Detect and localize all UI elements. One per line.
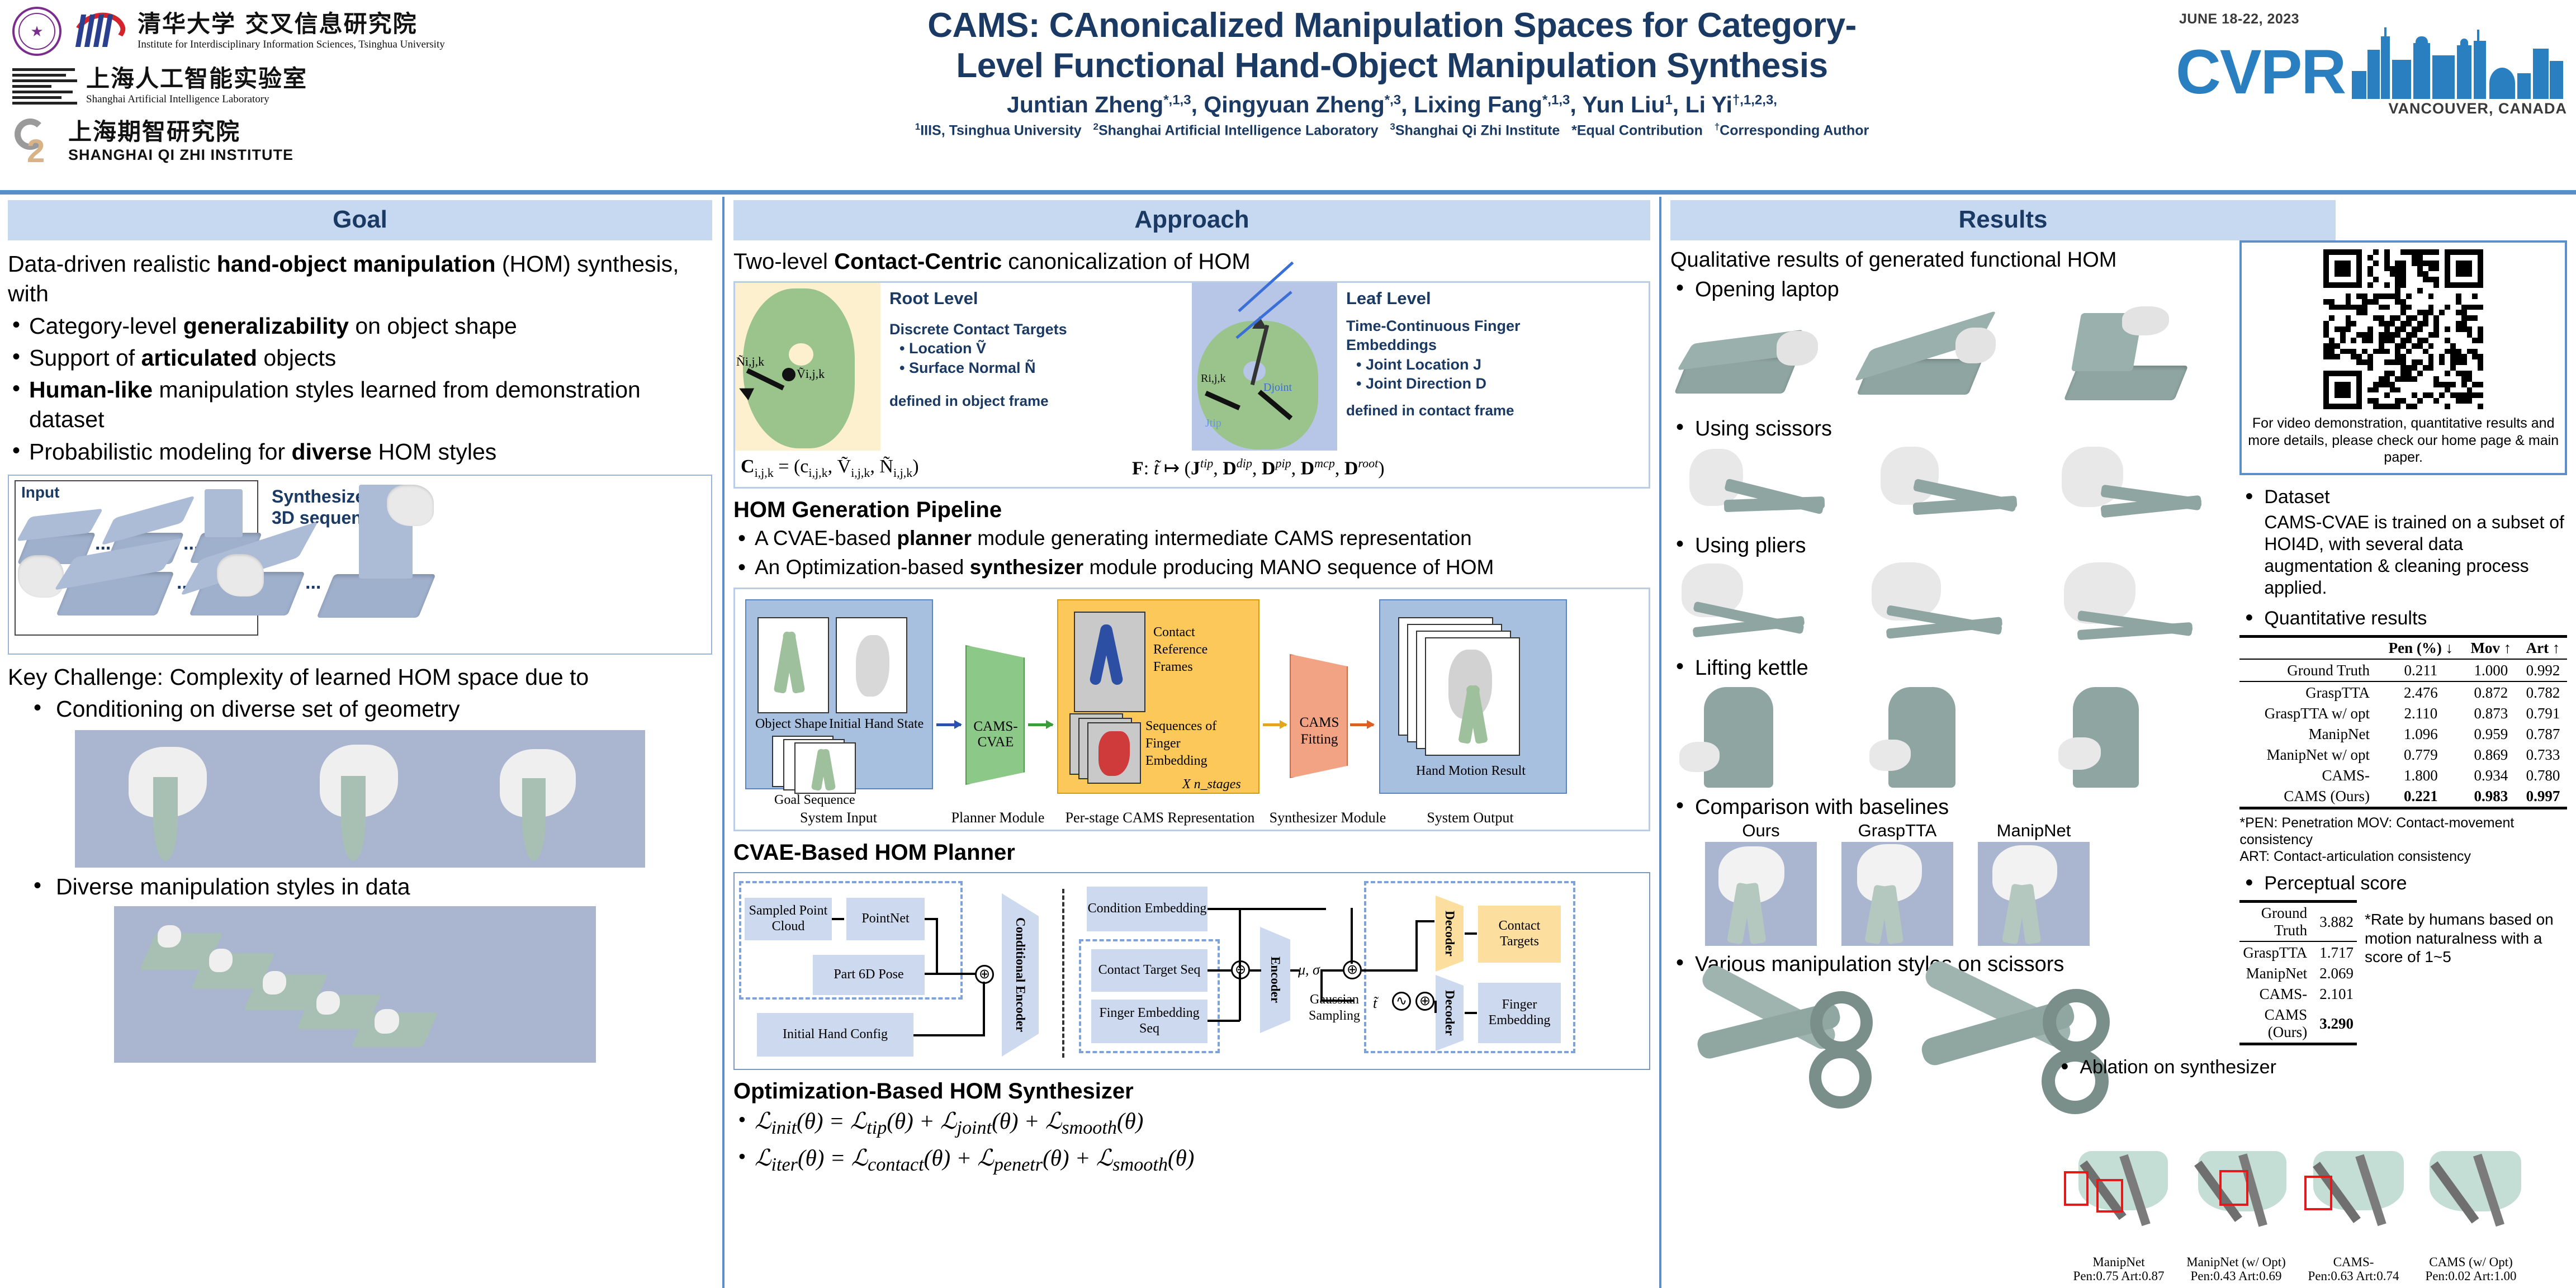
quant-r0-v2: 0.992 bbox=[2519, 660, 2567, 681]
challenge-bullet-list: Conditioning on diverse set of geometry bbox=[8, 694, 712, 724]
quant-r1-v0: 2.476 bbox=[2379, 683, 2463, 703]
ablation-cell-3: CAMS (w/ Opt) Pen:0.02 Art:1.00 bbox=[2414, 1147, 2528, 1284]
pipe-label-goal-sequence: Goal Sequence bbox=[774, 793, 855, 808]
quant-r5-v1: 0.934 bbox=[2463, 765, 2519, 786]
baseline-label-ours: Ours bbox=[1705, 821, 1817, 841]
ablation-row: ManipNet Pen:0.75 Art:0.87 ManipNet (w bbox=[2062, 1147, 2570, 1284]
pipeline-figure: Object Shape Initial Hand State Goal Seq… bbox=[733, 588, 1650, 831]
ablation-img-2 bbox=[2296, 1147, 2411, 1254]
pipeline-canvas: Object Shape Initial Hand State Goal Seq… bbox=[735, 589, 1649, 830]
synthesizer-title: Optimization-Based HOM Synthesizer bbox=[733, 1079, 1650, 1104]
challenge-bullet-2: Diverse manipulation styles in data bbox=[8, 872, 712, 902]
perc-r0-v0: 3.882 bbox=[2316, 903, 2357, 941]
perceptual-note: *Rate by humans based on motion naturaln… bbox=[2365, 894, 2567, 1046]
planner-canvas: Sampled Point Cloud PointNet Part 6D Pos… bbox=[735, 873, 1649, 1069]
pipe-label-stages: X n_stages bbox=[1182, 777, 1241, 792]
pipe-object-shape-card bbox=[757, 617, 829, 713]
vancouver-skyline-icon bbox=[2351, 27, 2564, 99]
planner-encoder: Encoder bbox=[1260, 927, 1290, 1033]
pipe-caption-3: Per-stage CAMS Representation bbox=[1054, 809, 1266, 826]
ablation-highlight-2 bbox=[2304, 1176, 2332, 1210]
ablation-caption-3: CAMS (w/ Opt) Pen:0.02 Art:1.00 bbox=[2414, 1255, 2528, 1284]
results-left: Qualitative results of generated functio… bbox=[1670, 240, 2232, 1124]
header-divider bbox=[0, 190, 2576, 195]
quant-r0-label: Ground Truth bbox=[2239, 660, 2379, 681]
leaf-item-2: Joint Direction D bbox=[1356, 374, 1649, 394]
quant-r3-v0: 1.096 bbox=[2379, 724, 2463, 745]
planner-node-finger-embedding: Finger Embedding bbox=[1478, 983, 1561, 1043]
perceptual-table: Ground Truth 3.882 GraspTTA 1.717 ManipN… bbox=[2239, 900, 2357, 1046]
planner-ce-label: Conditional Encoder bbox=[1013, 917, 1027, 1032]
logo-text-cn-qizhi: 上海期智研究院 bbox=[68, 120, 293, 144]
affiliation-list: 1IIIS, Tsinghua University 2Shanghai Art… bbox=[609, 121, 2175, 139]
column-approach: Approach Two-level Contact-Centric canon… bbox=[722, 197, 1661, 1288]
pliers-frame-1 bbox=[1670, 561, 1849, 651]
quant-col-3: Art ↑ bbox=[2519, 638, 2567, 659]
section-header-goal: Goal bbox=[8, 200, 712, 240]
ablation-img-3 bbox=[2414, 1147, 2528, 1254]
pipe-label-finger-embedding: Sequences of Finger Embedding bbox=[1145, 718, 1244, 770]
author-list: Juntian Zheng*,1,3, Qingyuan Zheng*,3, L… bbox=[609, 92, 2175, 118]
ablation-name-2: CAMS- bbox=[2296, 1255, 2411, 1270]
root-item-2: Surface Normal Ñ bbox=[899, 358, 1192, 378]
root-frame-note: defined in object frame bbox=[889, 392, 1192, 410]
planner-decoder-2: Decoder bbox=[1436, 975, 1464, 1051]
quant-r2-v2: 0.791 bbox=[2519, 703, 2567, 724]
quant-r1-label: GraspTTA bbox=[2239, 683, 2379, 703]
quant-r4-v0: 0.779 bbox=[2379, 745, 2463, 765]
table-row: CAMS- 1.800 0.934 0.780 bbox=[2239, 765, 2567, 786]
pipe-contact-ref-card bbox=[1074, 612, 1145, 712]
goal-b2-post: objects bbox=[257, 345, 336, 371]
result-bullet-opening-laptop: Opening laptop bbox=[1670, 278, 2232, 302]
pipeline-bullets: A CVAE-based planner module generating i… bbox=[733, 525, 1650, 581]
pipe-label-hand-state: Initial Hand State bbox=[829, 717, 924, 732]
quant-header-row: Pen (%) ↓ Mov ↑ Art ↑ bbox=[2239, 638, 2567, 659]
planner-decoder2-label: Decoder bbox=[1442, 990, 1457, 1036]
canon-formula-row: Ci,j,k = (ci,j,k, Ṽi,j,k, Ñi,j,k) F: t̃ … bbox=[735, 451, 1649, 487]
pipe-planner-module bbox=[965, 645, 1025, 785]
results-grid: Qualitative results of generated functio… bbox=[1670, 240, 2567, 1124]
pipe-label-object-shape: Object Shape bbox=[755, 717, 827, 732]
pipe-caption-2: Planner Module bbox=[942, 809, 1054, 826]
table-row: GraspTTA w/ opt 2.110 0.873 0.791 bbox=[2239, 703, 2567, 724]
poster-header: 清华大学 交叉信息研究院 Institute for Interdiscipli… bbox=[0, 0, 2576, 195]
ablation-caption-1: ManipNet (w/ Opt) Pen:0.43 Art:0.69 bbox=[2179, 1255, 2293, 1284]
tsinghua-seal-icon bbox=[12, 7, 61, 56]
pipe-label-contact-frames: Contact Reference Frames bbox=[1153, 624, 1243, 676]
goal-bullet-2: Support of articulated objects bbox=[8, 343, 712, 373]
scissors-frame-2 bbox=[1855, 444, 2034, 528]
goal-b1-pre: Category-level bbox=[29, 313, 183, 339]
pipeline-bullet-1: A CVAE-based planner module generating i… bbox=[733, 525, 1650, 552]
goal-b2-bold: articulated bbox=[141, 345, 257, 371]
goal-b4-post: HOM styles bbox=[372, 439, 496, 465]
root-location-label: Ṽi,j,k bbox=[797, 367, 825, 381]
goal-bullet-4: Probabilistic modeling for diverse HOM s… bbox=[8, 437, 712, 467]
leaf-group-heading-l2: Embeddings bbox=[1346, 335, 1649, 355]
goal-intro-a: Data-driven realistic bbox=[8, 251, 217, 277]
planner-gaussian-sampling: Gaussian Sampling bbox=[1305, 992, 1364, 1024]
root-item-list: Location Ṽ Surface Normal Ñ bbox=[889, 339, 1192, 377]
planner-title: CVAE-Based HOM Planner bbox=[733, 840, 1650, 865]
planner-node-contact-targets: Contact Targets bbox=[1478, 906, 1561, 963]
quant-title: Quantitative results bbox=[2239, 608, 2567, 629]
planner-node-initial-hand: Initial Hand Config bbox=[757, 1013, 913, 1057]
qr-code-icon[interactable] bbox=[2323, 249, 2483, 409]
pipe-label-hand-motion: Hand Motion Result bbox=[1416, 764, 1526, 779]
baseline-labels-row: Ours GraspTTA ManipNet bbox=[1670, 821, 2232, 841]
pb2-post: module producing MANO sequence of HOM bbox=[1083, 556, 1494, 579]
baseline-img-grasptta bbox=[1841, 842, 1953, 946]
pipe-caption-1: System Input bbox=[735, 809, 942, 826]
leaf-item-1: Joint Location J bbox=[1356, 355, 1649, 375]
leaf-djoint-label: Djoint bbox=[1263, 381, 1292, 394]
ablation-name-0: ManipNet bbox=[2062, 1255, 2176, 1270]
key-challenge-text: Key Challenge: Complexity of learned HOM… bbox=[8, 662, 712, 692]
goal-intro: Data-driven realistic hand-object manipu… bbox=[8, 249, 712, 309]
goal-b1-bold: generalizability bbox=[183, 313, 349, 339]
pipeline-title: HOM Generation Pipeline bbox=[733, 498, 1650, 523]
kettle-frame-1 bbox=[1670, 684, 1849, 790]
kettle-frame-2 bbox=[1855, 684, 2034, 790]
pipe-out-card-4 bbox=[1425, 637, 1520, 756]
pipe-arrow-2 bbox=[1028, 723, 1053, 726]
ablation-caption-0: ManipNet Pen:0.75 Art:0.87 bbox=[2062, 1255, 2176, 1284]
quant-r5-v2: 0.780 bbox=[2519, 765, 2567, 786]
perc-r4-label: CAMS (Ours) bbox=[2239, 1005, 2316, 1044]
quant-r0-v1: 1.000 bbox=[2463, 660, 2519, 681]
logo-text-en-ailab: Shanghai Artificial Intelligence Laborat… bbox=[86, 93, 307, 106]
quant-r4-v1: 0.869 bbox=[2463, 745, 2519, 765]
table-row: ManipNet 2.069 bbox=[2239, 963, 2357, 984]
cvpr-date: JUNE 18-22, 2023 bbox=[2179, 11, 2567, 27]
figure-baseline-comparison bbox=[1670, 842, 2232, 946]
pb2-bold: synthesizer bbox=[970, 556, 1084, 579]
results-right: For video demonstration, quantitative re… bbox=[2232, 240, 2567, 1124]
pipe-hand-state-card bbox=[836, 617, 907, 713]
qr-panel: For video demonstration, quantitative re… bbox=[2239, 240, 2567, 475]
quant-footnote-2: ART: Contact-articulation consistency bbox=[2239, 848, 2567, 865]
canonicalization-figure: Ñi,j,k Ṽi,j,k Root Level Discrete Contac… bbox=[733, 281, 1650, 489]
kettle-frame-3 bbox=[2039, 684, 2218, 790]
column-results: Results Qualitative results of generated… bbox=[1661, 197, 2574, 1288]
quant-r3-v2: 0.787 bbox=[2519, 724, 2567, 745]
ablation-metrics-2: Pen:0.63 Art:0.74 bbox=[2296, 1269, 2411, 1284]
table-row: CAMS- 2.101 bbox=[2239, 984, 2357, 1005]
quant-r3-label: ManipNet bbox=[2239, 724, 2379, 745]
planner-figure: Sampled Point Cloud PointNet Part 6D Pos… bbox=[733, 872, 1650, 1070]
root-formula: Ci,j,k = (ci,j,k, Ṽi,j,k, Ñi,j,k) bbox=[741, 456, 1132, 480]
pipe-arrow-3 bbox=[1263, 723, 1286, 726]
quant-r2-v1: 0.873 bbox=[2463, 703, 2519, 724]
result-bullet-using-pliers: Using pliers bbox=[1670, 534, 2232, 558]
planner-conditional-encoder: Conditional Encoder bbox=[1002, 893, 1039, 1057]
pipeline-captions: System Input Planner Module Per-stage CA… bbox=[735, 809, 1649, 826]
root-group-heading: Discrete Contact Targets bbox=[889, 320, 1192, 339]
figure-geometry-diversity bbox=[75, 730, 645, 868]
shanghai-ai-lab-icon bbox=[12, 66, 78, 106]
root-item-1: Location Ṽ bbox=[899, 339, 1192, 358]
planner-plus-1: ⊕ bbox=[975, 965, 994, 984]
pb1-pre: A CVAE-based bbox=[755, 527, 897, 550]
goal-b3-bold: Human-like bbox=[29, 377, 153, 402]
figure-using-pliers bbox=[1670, 561, 2232, 651]
leaf-level-render: Ri,j,k Djoint Jtip bbox=[1192, 283, 1337, 451]
logo-text-cn-tsinghua: 清华大学 交叉信息研究院 bbox=[138, 12, 445, 36]
page-title-line1: CAMS: CAnonicalized Manipulation Spaces … bbox=[609, 6, 2175, 46]
perc-r3-label: CAMS- bbox=[2239, 984, 2316, 1005]
qr-caption: For video demonstration, quantitative re… bbox=[2247, 415, 2559, 466]
pipe-caption-5: System Output bbox=[1389, 809, 1551, 826]
ablation-highlight-1 bbox=[2219, 1170, 2248, 1206]
table-row: ManipNet 1.096 0.959 0.787 bbox=[2239, 724, 2567, 745]
logo-tsinghua-iiis: 清华大学 交叉信息研究院 Institute for Interdiscipli… bbox=[12, 3, 588, 59]
cvpr-wordmark: CVPR bbox=[2176, 45, 2345, 99]
quant-r4-v2: 0.733 bbox=[2519, 745, 2567, 765]
ablation-highlight-0a bbox=[2064, 1171, 2089, 1206]
quant-r6-v2: 0.997 bbox=[2526, 788, 2560, 804]
quant-col-1: Pen (%) ↓ bbox=[2379, 638, 2463, 659]
quant-footnote-1: *PEN: Penetration MOV: Contact-movement … bbox=[2239, 815, 2567, 848]
pb1-post: module generating intermediate CAMS repr… bbox=[972, 527, 1472, 550]
canon-title-bold: Contact-Centric bbox=[834, 249, 1002, 274]
challenge-bullet-list-2: Diverse manipulation styles in data bbox=[8, 872, 712, 902]
goal-b2-pre: Support of bbox=[29, 345, 141, 371]
perceptual-title: Perceptual score bbox=[2239, 873, 2567, 894]
canon-row: Ñi,j,k Ṽi,j,k Root Level Discrete Contac… bbox=[735, 283, 1649, 451]
table-row: Ground Truth 0.211 1.000 0.992 bbox=[2239, 660, 2567, 681]
quant-r2-label: GraspTTA w/ opt bbox=[2239, 703, 2379, 724]
baseline-label-manipnet: ManipNet bbox=[1978, 821, 2090, 841]
synth-eq-1: ℒinit(θ) = ℒtip(θ) + ℒjoint(θ) + ℒsmooth… bbox=[733, 1106, 1650, 1141]
goal-intro-bold: hand-object manipulation bbox=[217, 251, 496, 277]
planner-node-cond-embed: Condition Embedding bbox=[1087, 887, 1207, 931]
goal-b4-pre: Probabilistic modeling for bbox=[29, 439, 291, 465]
leaf-frame-note: defined in contact frame bbox=[1346, 401, 1649, 420]
pb1-bold: planner bbox=[897, 527, 972, 550]
goal-bullet-3: Human-like manipulation styles learned f… bbox=[8, 375, 712, 435]
laptop-frame-2 bbox=[1855, 305, 2034, 411]
result-bullet-comparison: Comparison with baselines bbox=[1670, 795, 2232, 820]
perc-r0-label: Ground Truth bbox=[2239, 903, 2316, 941]
pipe-arrow-1 bbox=[936, 723, 961, 726]
table-row: GraspTTA 1.717 bbox=[2239, 943, 2357, 963]
quant-r6-v1: 0.983 bbox=[2474, 788, 2508, 804]
perc-r4-v0: 3.290 bbox=[2319, 1015, 2354, 1032]
quant-r5-v0: 1.800 bbox=[2379, 765, 2463, 786]
logo-shanghai-ai-lab: 上海人工智能实验室 Shanghai Artificial Intelligen… bbox=[12, 59, 588, 113]
goal-b4-bold: diverse bbox=[291, 439, 372, 465]
poster-columns: Goal Data-driven realistic hand-object m… bbox=[0, 197, 2576, 1288]
logo-text-en-qizhi: SHANGHAI QI ZHI INSTITUTE bbox=[68, 146, 293, 164]
section-header-results: Results bbox=[1670, 200, 2336, 240]
result-bullet-using-scissors: Using scissors bbox=[1670, 417, 2232, 441]
challenge-bullet-1: Conditioning on diverse set of geometry bbox=[8, 694, 712, 724]
figure-opening-laptop bbox=[1670, 305, 2232, 411]
planner-node-pointcloud: Sampled Point Cloud bbox=[745, 898, 832, 940]
iiis-logo-icon bbox=[69, 9, 130, 54]
pb2-pre: An Optimization-based bbox=[755, 556, 970, 579]
column-goal: Goal Data-driven realistic hand-object m… bbox=[0, 197, 722, 1288]
perc-r1-v0: 1.717 bbox=[2316, 943, 2357, 963]
figure-using-scissors bbox=[1670, 444, 2232, 528]
scissors-frame-3 bbox=[2039, 444, 2218, 528]
baseline-img-manipnet bbox=[1978, 842, 2090, 946]
baseline-label-grasptta: GraspTTA bbox=[1841, 821, 1953, 841]
result-bullet-lifting-kettle: Lifting kettle bbox=[1670, 656, 2232, 680]
planner-node-contact-seq: Contact Target Seq bbox=[1091, 949, 1207, 992]
teaser-dots-4: ... bbox=[305, 572, 321, 594]
qizhi-logo-icon: 2 bbox=[12, 116, 60, 168]
ablation-title: Ablation on synthesizer bbox=[2055, 1057, 2558, 1078]
pliers-frame-3 bbox=[2039, 561, 2218, 651]
ablation-name-1: ManipNet (w/ Opt) bbox=[2179, 1255, 2293, 1270]
logo-shanghai-qizhi: 2 上海期智研究院 SHANGHAI QI ZHI INSTITUTE bbox=[12, 113, 588, 171]
quant-r1-v1: 0.872 bbox=[2463, 683, 2519, 703]
leaf-item-list: Joint Location J Joint Direction D bbox=[1346, 355, 1649, 394]
planner-node-pointnet: PointNet bbox=[846, 898, 925, 940]
leaf-group-heading-l1: Time-Continuous Finger bbox=[1346, 316, 1649, 336]
pliers-frame-2 bbox=[1855, 561, 2034, 651]
pipe-label-cams-cvae: CAMS-CVAE bbox=[962, 719, 1029, 750]
qualitative-title: Qualitative results of generated functio… bbox=[1670, 248, 2232, 272]
table-row: Ground Truth 3.882 bbox=[2239, 903, 2357, 941]
logo-text-en-tsinghua: Institute for Interdisciplinary Informat… bbox=[138, 39, 445, 51]
perc-r1-label: GraspTTA bbox=[2239, 943, 2316, 963]
quant-r4-label: ManipNet w/ opt bbox=[2239, 745, 2379, 765]
quant-r6-label: CAMS (Ours) bbox=[2239, 786, 2379, 808]
pipeline-bullet-2: An Optimization-based synthesizer module… bbox=[733, 554, 1650, 581]
table-row: CAMS (Ours) 0.221 0.983 0.997 bbox=[2239, 786, 2567, 808]
laptop-frame-3 bbox=[2039, 305, 2218, 411]
pipe-finger-card-3 bbox=[1087, 722, 1141, 784]
goal-bullet-1: Category-level generalizability on objec… bbox=[8, 311, 712, 341]
goal-bullet-list: Category-level generalizability on objec… bbox=[8, 311, 712, 467]
ablation-img-0 bbox=[2062, 1147, 2176, 1254]
logo-text-cn-ailab: 上海人工智能实验室 bbox=[86, 67, 307, 91]
leaf-level-text: Leaf Level Time-Continuous Finger Embedd… bbox=[1337, 283, 1649, 451]
table-row: CAMS (Ours) 3.290 bbox=[2239, 1005, 2357, 1044]
ablation-metrics-3: Pen:0.02 Art:1.00 bbox=[2414, 1269, 2528, 1284]
cvpr-logo: JUNE 18-22, 2023 CVPR bbox=[2176, 11, 2567, 117]
section-header-approach: Approach bbox=[733, 200, 1650, 240]
root-level-text: Root Level Discrete Contact Targets Loca… bbox=[880, 283, 1192, 451]
dataset-text: CAMS-CVAE is trained on a subset of HOI4… bbox=[2239, 512, 2567, 599]
quant-r5-label: CAMS- bbox=[2239, 765, 2379, 786]
quant-r3-v1: 0.959 bbox=[2463, 724, 2519, 745]
pipe-arrow-4 bbox=[1350, 723, 1374, 726]
quant-r1-v2: 0.782 bbox=[2519, 683, 2567, 703]
teaser-canvas: Input ... ... Synthesized 3D sequence bbox=[9, 476, 711, 654]
table-row: GraspTTA 2.476 0.872 0.782 bbox=[2239, 683, 2567, 703]
baseline-img-ours bbox=[1705, 842, 1817, 946]
leaf-formula: F: t̃ ↦ (Jtip, Ddip, Dpip, Dmcp, Droot) bbox=[1132, 456, 1385, 480]
institution-logos: 清华大学 交叉信息研究院 Institute for Interdiscipli… bbox=[12, 3, 588, 171]
ablation-strip: ManipNet Pen:0.75 Art:0.87 ManipNet (w bbox=[2062, 1147, 2570, 1284]
title-block: CAMS: CAnonicalized Manipulation Spaces … bbox=[609, 6, 2175, 139]
leaf-r-label: Ri,j,k bbox=[1201, 372, 1225, 385]
planner-divider bbox=[1062, 889, 1064, 1058]
pipe-caption-4: Synthesizer Module bbox=[1266, 809, 1389, 826]
canonicalization-title: Two-level Contact-Centric canonicalizati… bbox=[733, 249, 1650, 274]
planner-node-finger-seq: Finger Embedding Seq bbox=[1091, 1000, 1207, 1043]
ablation-cell-2: CAMS- Pen:0.63 Art:0.74 bbox=[2296, 1147, 2411, 1284]
page-title-line2: Level Functional Hand-Object Manipulatio… bbox=[609, 46, 2175, 86]
quant-r2-v0: 2.110 bbox=[2379, 703, 2463, 724]
ablation-cell-0: ManipNet Pen:0.75 Art:0.87 bbox=[2062, 1147, 2176, 1284]
quant-r0-v0: 0.211 bbox=[2379, 660, 2463, 681]
canon-title-post: canonicalization of HOM bbox=[1002, 249, 1251, 274]
dataset-title: Dataset bbox=[2239, 486, 2567, 508]
root-level-render: Ñi,j,k Ṽi,j,k bbox=[735, 283, 880, 451]
leaf-level-heading: Leaf Level bbox=[1346, 287, 1649, 310]
perc-r2-v0: 2.069 bbox=[2316, 963, 2357, 984]
quantitative-table: Pen (%) ↓ Mov ↑ Art ↑ Ground Truth 0.211… bbox=[2239, 635, 2567, 811]
scissors-frame-1 bbox=[1670, 444, 1849, 528]
planner-musigma: μ, σ bbox=[1298, 962, 1320, 978]
goal-b1-post: on object shape bbox=[349, 313, 517, 339]
planner-encoder-label: Encoder bbox=[1268, 956, 1282, 1003]
planner-decoder1-label: Decoder bbox=[1442, 911, 1457, 956]
synth-eq-2: ℒiter(θ) = ℒcontact(θ) + ℒpenetr(θ) + ℒs… bbox=[733, 1143, 1650, 1178]
pipe-goal-card-3 bbox=[794, 742, 856, 794]
ablation-name-3: CAMS (w/ Opt) bbox=[2414, 1255, 2528, 1270]
planner-decoder-1: Decoder bbox=[1436, 896, 1464, 972]
teaser-figure: Input ... ... Synthesized 3D sequence bbox=[8, 475, 712, 655]
ablation-img-1 bbox=[2179, 1147, 2293, 1254]
perc-r3-v0: 2.101 bbox=[2316, 984, 2357, 1005]
planner-node-part6d: Part 6D Pose bbox=[813, 955, 925, 995]
synth-equations: ℒinit(θ) = ℒtip(θ) + ℒjoint(θ) + ℒsmooth… bbox=[733, 1106, 1650, 1177]
quant-r6-v0: 0.221 bbox=[2404, 788, 2438, 804]
laptop-frame-1 bbox=[1670, 305, 1849, 411]
figure-scissors-styles bbox=[1670, 979, 2232, 1124]
root-level-heading: Root Level bbox=[889, 287, 1192, 310]
figure-diverse-styles bbox=[114, 906, 596, 1063]
root-normal-label: Ñi,j,k bbox=[736, 354, 764, 369]
ablation-cell-1: ManipNet (w/ Opt) Pen:0.43 Art:0.69 bbox=[2179, 1147, 2293, 1284]
ablation-highlight-0b bbox=[2096, 1179, 2123, 1213]
quant-col-2: Mov ↑ bbox=[2463, 638, 2519, 659]
ablation-caption-2: CAMS- Pen:0.63 Art:0.74 bbox=[2296, 1255, 2411, 1284]
leaf-jtip-label: Jtip bbox=[1205, 417, 1221, 430]
poster-root: 清华大学 交叉信息研究院 Institute for Interdiscipli… bbox=[0, 0, 2576, 1288]
table-row: ManipNet w/ opt 0.779 0.869 0.733 bbox=[2239, 745, 2567, 765]
perc-r2-label: ManipNet bbox=[2239, 963, 2316, 984]
ablation-metrics-0: Pen:0.75 Art:0.87 bbox=[2062, 1269, 2176, 1284]
teaser-input-label: Input bbox=[21, 484, 59, 501]
ablation-metrics-1: Pen:0.43 Art:0.69 bbox=[2179, 1269, 2293, 1284]
perceptual-block: Ground Truth 3.882 GraspTTA 1.717 ManipN… bbox=[2239, 894, 2567, 1046]
figure-lifting-kettle bbox=[1670, 684, 2232, 790]
quant-col-0 bbox=[2239, 638, 2379, 659]
canon-title-pre: Two-level bbox=[733, 249, 834, 274]
pipe-label-cams-fitting: CAMS Fitting bbox=[1289, 714, 1350, 748]
